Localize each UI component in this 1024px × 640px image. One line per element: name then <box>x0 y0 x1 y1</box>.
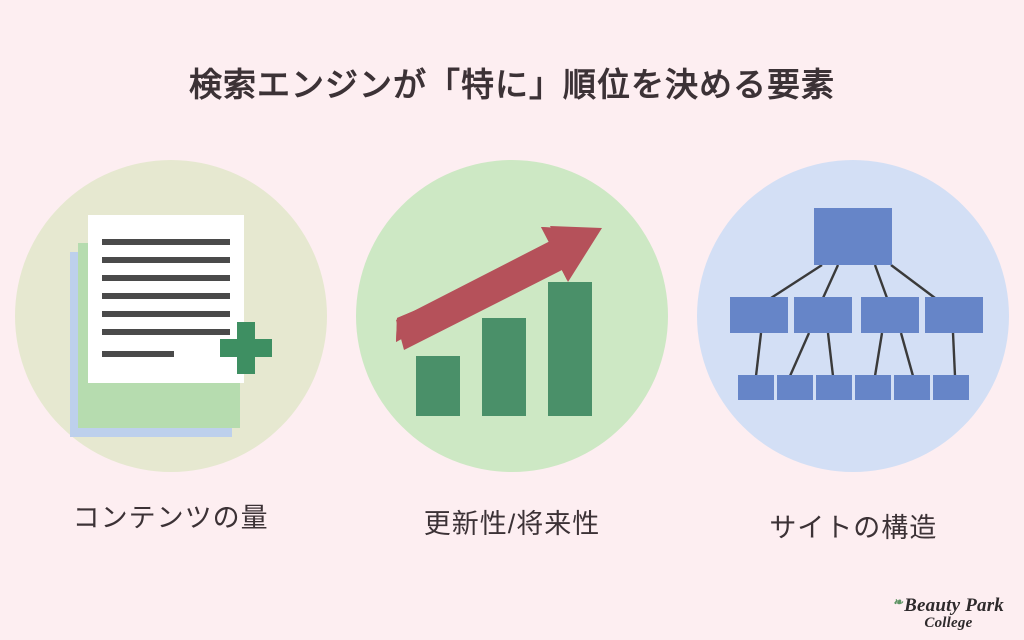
brand-logo: ❧Beauty Park College <box>893 596 1004 632</box>
tree-node-level2 <box>861 297 919 333</box>
factor-caption-freshness: 更新性/将来性 <box>424 502 601 541</box>
page-title: 検索エンジンが「特に」順位を決める要素 <box>0 58 1024 106</box>
tree-node-level3 <box>777 375 813 400</box>
document-text-line <box>102 329 230 335</box>
tree-node-level3 <box>855 375 891 400</box>
tree-node-level3 <box>933 375 969 400</box>
document-text-line <box>102 351 174 357</box>
tree-node-level3 <box>816 375 852 400</box>
document-text-line <box>102 239 230 245</box>
factor-item-freshness: 更新性/将来性 <box>347 160 677 541</box>
factor-caption-content-quantity: コンテンツの量 <box>73 496 269 535</box>
upward-trend-arrow-icon <box>356 160 668 472</box>
document-text-line <box>102 293 230 299</box>
tree-node-level2 <box>730 297 788 333</box>
tree-node-level3 <box>738 375 774 400</box>
tree-node-root <box>814 208 892 265</box>
brand-logo-secondary: College <box>893 616 1004 632</box>
factor-item-content-quantity: コンテンツの量 <box>6 160 336 535</box>
leaf-icon: ❧ <box>893 596 903 609</box>
tree-node-level2 <box>925 297 983 333</box>
tree-node-group <box>730 208 983 400</box>
factors-row: コンテンツの量 更新性/将来性 <box>0 160 1024 545</box>
document-text-line <box>102 311 230 317</box>
brand-logo-primary-text: Beauty Park <box>904 595 1004 616</box>
site-hierarchy-icon <box>697 160 1009 472</box>
factor-item-site-structure: サイトの構造 <box>688 160 1018 545</box>
plus-icon <box>220 322 272 374</box>
factor-icon-circle-2 <box>356 160 668 472</box>
brand-logo-primary: ❧Beauty Park <box>893 596 1004 616</box>
growth-chart-icon <box>356 160 668 472</box>
document-text-line <box>102 275 230 281</box>
factor-icon-circle-1 <box>15 160 327 472</box>
tree-node-level2 <box>794 297 852 333</box>
factor-caption-site-structure: サイトの構造 <box>769 506 937 545</box>
document-stack-icon <box>15 160 327 472</box>
document-text-line <box>102 257 230 263</box>
tree-node-level3 <box>894 375 930 400</box>
factor-icon-circle-3 <box>697 160 1009 472</box>
